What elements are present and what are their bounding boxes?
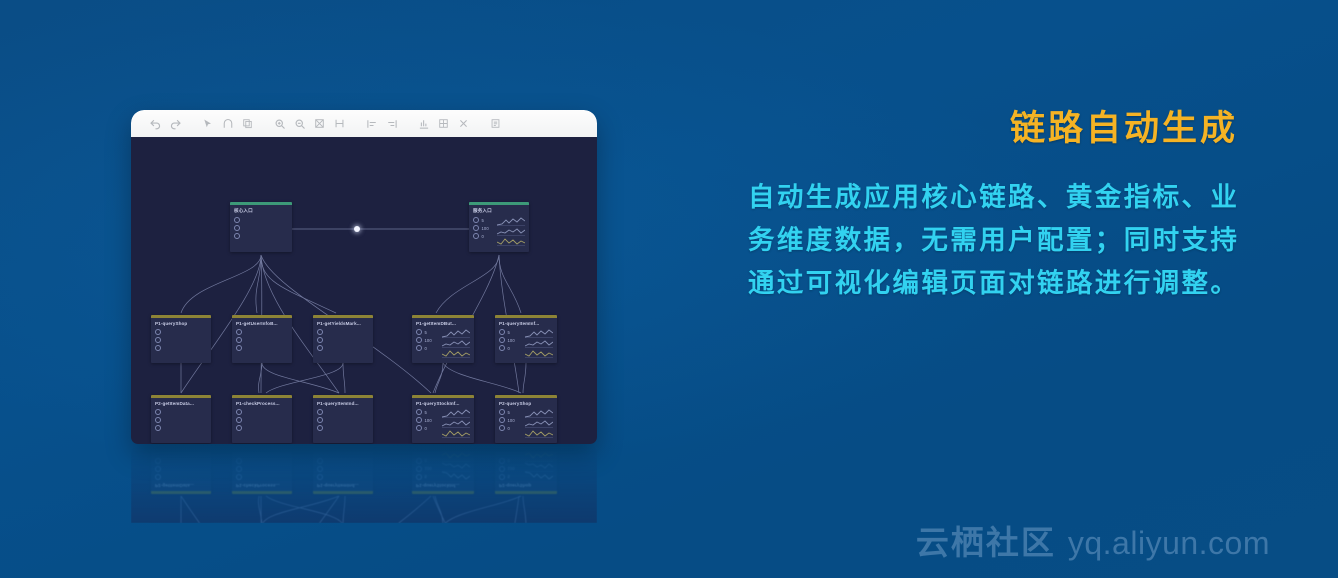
metric-bullet-icon xyxy=(416,345,422,351)
sparkline-chart xyxy=(525,429,553,438)
node-title: P2-queryShop xyxy=(495,481,557,491)
node-metric-row xyxy=(317,344,369,352)
metric-bullet-icon xyxy=(155,474,161,480)
metric-bullet-icon xyxy=(236,329,242,335)
node-metric-row xyxy=(155,473,207,481)
metric-bullet-icon xyxy=(416,474,422,480)
node-sparklines xyxy=(442,408,470,438)
diagram-node: P1-queryItemInd... xyxy=(313,446,373,494)
diagram-node[interactable]: P1-queryShop xyxy=(151,315,211,363)
diagram-node[interactable]: 核心入口 xyxy=(230,202,292,252)
sparkline-chart xyxy=(525,471,553,480)
diagram-node: P2-getItemData... xyxy=(151,446,211,494)
metric-bullet-icon xyxy=(317,329,323,335)
sparkline-chart xyxy=(525,419,553,428)
diagram-node[interactable]: P1-queryStockInf...51000 xyxy=(412,395,474,443)
node-metric-row xyxy=(236,424,288,432)
node-body: 51000 xyxy=(469,216,529,250)
node-metric-row: 0 xyxy=(499,344,522,352)
node-metrics xyxy=(236,328,288,352)
node-metric-row xyxy=(155,416,207,424)
node-body xyxy=(313,408,373,436)
node-title: P1-getItemDBut... xyxy=(412,318,474,328)
node-title: P1-queryItemInd... xyxy=(313,398,373,408)
node-metrics: 51000 xyxy=(499,328,522,358)
fullscreen-icon[interactable] xyxy=(331,115,348,132)
node-metric-row: 0 xyxy=(416,457,439,465)
node-metric-row: 5 xyxy=(499,408,522,416)
watermark-url: yq.aliyun.com xyxy=(1068,525,1270,562)
diagram-node: P2-queryShop51000 xyxy=(495,446,557,494)
metric-bullet-icon xyxy=(416,466,422,472)
metric-bullet-icon xyxy=(236,337,242,343)
metric-bullet-icon xyxy=(317,409,323,415)
node-body: 51000 xyxy=(495,408,557,442)
sparkline-chart xyxy=(525,329,553,338)
panel-body: 自动生成应用核心链路、黄金指标、业务维度数据，无需用户配置；同时支持通过可视化编… xyxy=(748,176,1238,305)
sparkline-chart xyxy=(442,429,470,438)
metric-bullet-icon xyxy=(499,337,505,343)
node-status-bar xyxy=(151,491,211,494)
node-metric-row: 0 xyxy=(416,424,439,432)
node-body: 51000 xyxy=(412,447,474,481)
sparkline-chart xyxy=(497,227,525,236)
node-status-bar xyxy=(495,491,557,494)
node-metric-row xyxy=(317,465,369,473)
metric-bullet-icon xyxy=(236,474,242,480)
node-title: P1-queryItemInf... xyxy=(495,318,557,328)
node-status-bar xyxy=(412,491,474,494)
metric-bullet-icon xyxy=(236,417,242,423)
sparkline-chart xyxy=(525,409,553,418)
node-metric-row: 5 xyxy=(499,473,522,481)
metric-bullet-icon xyxy=(416,337,422,343)
node-body xyxy=(313,328,373,356)
metric-bullet-icon xyxy=(499,425,505,431)
node-metrics xyxy=(236,457,288,481)
metric-value: 100 xyxy=(482,226,489,231)
window-reflection: 核心入口服务入口51000P1-queryShopP1-getUserInfoB… xyxy=(131,445,597,523)
node-metric-row: 5 xyxy=(416,328,439,336)
diagram-node: P1-checkProcess... xyxy=(232,446,292,494)
undo-icon[interactable] xyxy=(147,115,164,132)
metric-bullet-icon xyxy=(499,458,505,464)
node-metric-row: 0 xyxy=(499,457,522,465)
node-body: 51000 xyxy=(412,408,474,442)
metric-bullet-icon xyxy=(416,329,422,335)
slide-canvas: 核心入口服务入口51000P1-queryShopP1-getUserInfoB… xyxy=(0,0,1338,578)
node-metric-row xyxy=(234,232,288,240)
diagram-node[interactable]: P2-getItemData... xyxy=(151,395,211,443)
sparkline-chart xyxy=(497,217,525,226)
node-body xyxy=(151,453,211,481)
node-metric-row: 100 xyxy=(499,336,522,344)
node-metrics: 51000 xyxy=(499,408,522,438)
node-body xyxy=(232,328,292,356)
sparkline-chart xyxy=(442,349,470,358)
metric-bullet-icon xyxy=(473,217,479,223)
node-metric-row xyxy=(155,336,207,344)
sparkline-chart xyxy=(497,237,525,246)
node-body xyxy=(313,453,373,481)
sparkline-chart xyxy=(525,451,553,460)
node-body xyxy=(151,328,211,356)
node-metric-row xyxy=(155,344,207,352)
diagram-node[interactable]: P1-getUserInfoB... xyxy=(232,315,292,363)
metric-bullet-icon xyxy=(499,417,505,423)
node-metrics: 51000 xyxy=(499,451,522,481)
diagram-node[interactable]: P1-queryItemInd... xyxy=(313,395,373,443)
zoom-in-icon[interactable] xyxy=(271,115,288,132)
node-metrics xyxy=(317,457,369,481)
node-metric-row xyxy=(317,424,369,432)
text-panel: 链路自动生成 自动生成应用核心链路、黄金指标、业务维度数据，无需用户配置；同时支… xyxy=(748,108,1238,305)
metric-value: 100 xyxy=(425,467,432,472)
node-metric-row: 0 xyxy=(473,232,494,240)
node-body xyxy=(232,408,292,436)
node-body: 51000 xyxy=(495,447,557,481)
node-metric-row xyxy=(234,216,288,224)
node-metric-row: 0 xyxy=(416,344,439,352)
node-metric-row xyxy=(236,457,288,465)
metric-value: 5 xyxy=(425,475,427,480)
align-left-icon[interactable] xyxy=(363,115,380,132)
metric-bullet-icon xyxy=(416,409,422,415)
metric-value: 5 xyxy=(508,410,510,415)
node-body xyxy=(151,408,211,436)
metric-bullet-icon xyxy=(234,225,240,231)
metric-value: 5 xyxy=(508,330,510,335)
metric-bullet-icon xyxy=(236,458,242,464)
node-metric-row xyxy=(236,465,288,473)
sparkline-chart xyxy=(442,471,470,480)
metric-bullet-icon xyxy=(499,474,505,480)
align-right-icon[interactable] xyxy=(383,115,400,132)
diagram-node[interactable]: P1-checkProcess... xyxy=(232,395,292,443)
node-metrics: 51000 xyxy=(473,216,494,246)
node-metric-row xyxy=(236,328,288,336)
node-sparklines xyxy=(525,451,553,481)
metric-bullet-icon xyxy=(317,425,323,431)
app-window: 核心入口服务入口51000P1-queryShopP1-getUserInfoB… xyxy=(131,110,597,444)
node-metrics xyxy=(317,408,369,432)
diagram-canvas[interactable]: 核心入口服务入口51000P1-queryShopP1-getUserInfoB… xyxy=(131,137,597,444)
metric-value: 0 xyxy=(508,459,510,464)
node-metrics: 51000 xyxy=(416,451,439,481)
metric-bullet-icon xyxy=(473,225,479,231)
app-window-container: 核心入口服务入口51000P1-queryShopP1-getUserInfoB… xyxy=(131,110,597,523)
node-metric-row xyxy=(155,408,207,416)
node-status-bar xyxy=(313,491,373,494)
metric-bullet-icon xyxy=(236,466,242,472)
diagram-node[interactable]: P1-getYieldsMark... xyxy=(313,315,373,363)
node-metrics: 51000 xyxy=(416,408,439,438)
metric-bullet-icon xyxy=(416,458,422,464)
metric-bullet-icon xyxy=(317,458,323,464)
metric-value: 0 xyxy=(508,346,510,351)
metric-bullet-icon xyxy=(416,425,422,431)
metric-value: 5 xyxy=(425,330,427,335)
watermark: 云栖社区 yq.aliyun.com xyxy=(916,516,1270,564)
metric-bullet-icon xyxy=(317,466,323,472)
node-metric-row xyxy=(236,408,288,416)
metric-value: 0 xyxy=(508,426,510,431)
metric-bullet-icon xyxy=(473,233,479,239)
metric-bullet-icon xyxy=(155,425,161,431)
node-metrics xyxy=(155,328,207,352)
node-metric-row: 100 xyxy=(499,465,522,473)
node-metric-row: 0 xyxy=(499,424,522,432)
metric-bullet-icon xyxy=(317,337,323,343)
sparkline-chart xyxy=(442,339,470,348)
node-status-bar xyxy=(232,491,292,494)
node-metric-row xyxy=(234,224,288,232)
node-body: 51000 xyxy=(412,328,474,362)
zoom-out-icon[interactable] xyxy=(291,115,308,132)
metric-bullet-icon xyxy=(234,233,240,239)
node-metrics xyxy=(155,408,207,432)
node-title: P2-getItemData... xyxy=(151,398,211,408)
node-title: 核心入口 xyxy=(230,205,292,216)
node-metric-row xyxy=(155,457,207,465)
sparkline-chart xyxy=(525,339,553,348)
node-metric-row xyxy=(236,473,288,481)
diagram-toolbar[interactable] xyxy=(131,110,597,137)
metric-bullet-icon xyxy=(499,345,505,351)
metric-bullet-icon xyxy=(236,345,242,351)
node-metric-row: 100 xyxy=(499,416,522,424)
node-metric-row xyxy=(236,416,288,424)
metric-bullet-icon xyxy=(317,345,323,351)
node-metrics xyxy=(155,457,207,481)
node-metric-row: 5 xyxy=(499,328,522,336)
mouse-cursor xyxy=(354,226,360,232)
node-body xyxy=(232,453,292,481)
node-body xyxy=(230,216,292,244)
metric-bullet-icon xyxy=(155,337,161,343)
node-metric-row xyxy=(155,328,207,336)
node-title: P1-checkProcess... xyxy=(232,398,292,408)
copy-icon[interactable] xyxy=(239,115,256,132)
node-sparklines xyxy=(442,328,470,358)
node-metric-row xyxy=(317,408,369,416)
node-metrics xyxy=(317,328,369,352)
node-metric-row: 5 xyxy=(416,408,439,416)
node-metric-row xyxy=(155,424,207,432)
sparkline-chart xyxy=(442,409,470,418)
node-title: 服务入口 xyxy=(469,205,529,216)
metric-value: 100 xyxy=(508,338,515,343)
metric-value: 5 xyxy=(508,475,510,480)
node-metric-row xyxy=(317,328,369,336)
diagram-node[interactable]: P1-getItemDBut...51000 xyxy=(412,315,474,363)
node-metric-row: 100 xyxy=(416,465,439,473)
node-metric-row xyxy=(236,336,288,344)
node-metric-row xyxy=(317,416,369,424)
node-title: P1-getUserInfoB... xyxy=(232,318,292,328)
metric-bullet-icon xyxy=(155,458,161,464)
metric-value: 100 xyxy=(425,338,432,343)
pointer-icon[interactable] xyxy=(199,115,216,132)
grid-icon[interactable] xyxy=(435,115,452,132)
redo-icon[interactable] xyxy=(167,115,184,132)
metric-bullet-icon xyxy=(236,409,242,415)
sparkline-chart xyxy=(525,349,553,358)
node-metric-row: 100 xyxy=(416,416,439,424)
sparkline-chart xyxy=(442,461,470,470)
metric-bullet-icon xyxy=(155,409,161,415)
metric-bullet-icon xyxy=(236,425,242,431)
node-title: P1-queryShop xyxy=(151,318,211,328)
node-metric-row: 5 xyxy=(473,216,494,224)
metric-value: 0 xyxy=(425,426,427,431)
node-sparklines xyxy=(497,216,525,246)
metric-bullet-icon xyxy=(499,466,505,472)
metric-bullet-icon xyxy=(499,329,505,335)
shape-icon[interactable] xyxy=(219,115,236,132)
node-title: P1-checkProcess... xyxy=(232,481,292,491)
node-title: P1-getYieldsMark... xyxy=(313,318,373,328)
close-icon[interactable] xyxy=(455,115,472,132)
metric-bullet-icon xyxy=(317,474,323,480)
metric-value: 100 xyxy=(425,418,432,423)
metric-bullet-icon xyxy=(155,466,161,472)
metric-bullet-icon xyxy=(155,417,161,423)
node-title: P1-queryStockInf... xyxy=(412,398,474,408)
diagram-node: P1-queryStockInf...51000 xyxy=(412,446,474,494)
node-metric-row xyxy=(317,336,369,344)
sparkline-chart xyxy=(442,419,470,428)
node-metric-row: 100 xyxy=(416,336,439,344)
sparkline-chart xyxy=(442,329,470,338)
node-metric-row: 5 xyxy=(416,473,439,481)
metric-value: 100 xyxy=(508,418,515,423)
node-body: 51000 xyxy=(495,328,557,362)
metric-value: 5 xyxy=(425,410,427,415)
diagram-node[interactable]: 服务入口51000 xyxy=(469,202,529,252)
node-metric-row xyxy=(155,465,207,473)
panel-title: 链路自动生成 xyxy=(748,108,1238,150)
sparkline-chart xyxy=(525,461,553,470)
node-metric-row xyxy=(236,344,288,352)
metric-bullet-icon xyxy=(155,345,161,351)
zoom-fit-icon[interactable] xyxy=(311,115,328,132)
node-metric-row xyxy=(317,473,369,481)
node-title: P2-getItemData... xyxy=(151,481,211,491)
metric-bullet-icon xyxy=(155,329,161,335)
node-title: P1-queryItemInd... xyxy=(313,481,373,491)
metric-bullet-icon xyxy=(234,217,240,223)
node-metrics xyxy=(234,216,288,240)
chart-icon[interactable] xyxy=(415,115,432,132)
node-metric-row: 100 xyxy=(473,224,494,232)
node-sparklines xyxy=(525,408,553,438)
metric-bullet-icon xyxy=(317,417,323,423)
node-metrics: 51000 xyxy=(416,328,439,358)
node-sparklines xyxy=(442,451,470,481)
metric-value: 0 xyxy=(425,459,427,464)
node-title: P1-queryStockInf... xyxy=(412,481,474,491)
sparkline-chart xyxy=(442,451,470,460)
metric-value: 0 xyxy=(425,346,427,351)
metric-bullet-icon xyxy=(499,409,505,415)
export-icon[interactable] xyxy=(487,115,504,132)
metric-value: 5 xyxy=(482,218,484,223)
watermark-brand: 云栖社区 xyxy=(916,516,1056,564)
node-metrics xyxy=(236,408,288,432)
node-title: P2-queryShop xyxy=(495,398,557,408)
metric-bullet-icon xyxy=(416,417,422,423)
node-sparklines xyxy=(525,328,553,358)
metric-value: 100 xyxy=(508,467,515,472)
metric-value: 0 xyxy=(482,234,484,239)
diagram-node[interactable]: P1-queryItemInf...51000 xyxy=(495,315,557,363)
diagram-node[interactable]: P2-queryShop51000 xyxy=(495,395,557,443)
node-metric-row xyxy=(317,457,369,465)
